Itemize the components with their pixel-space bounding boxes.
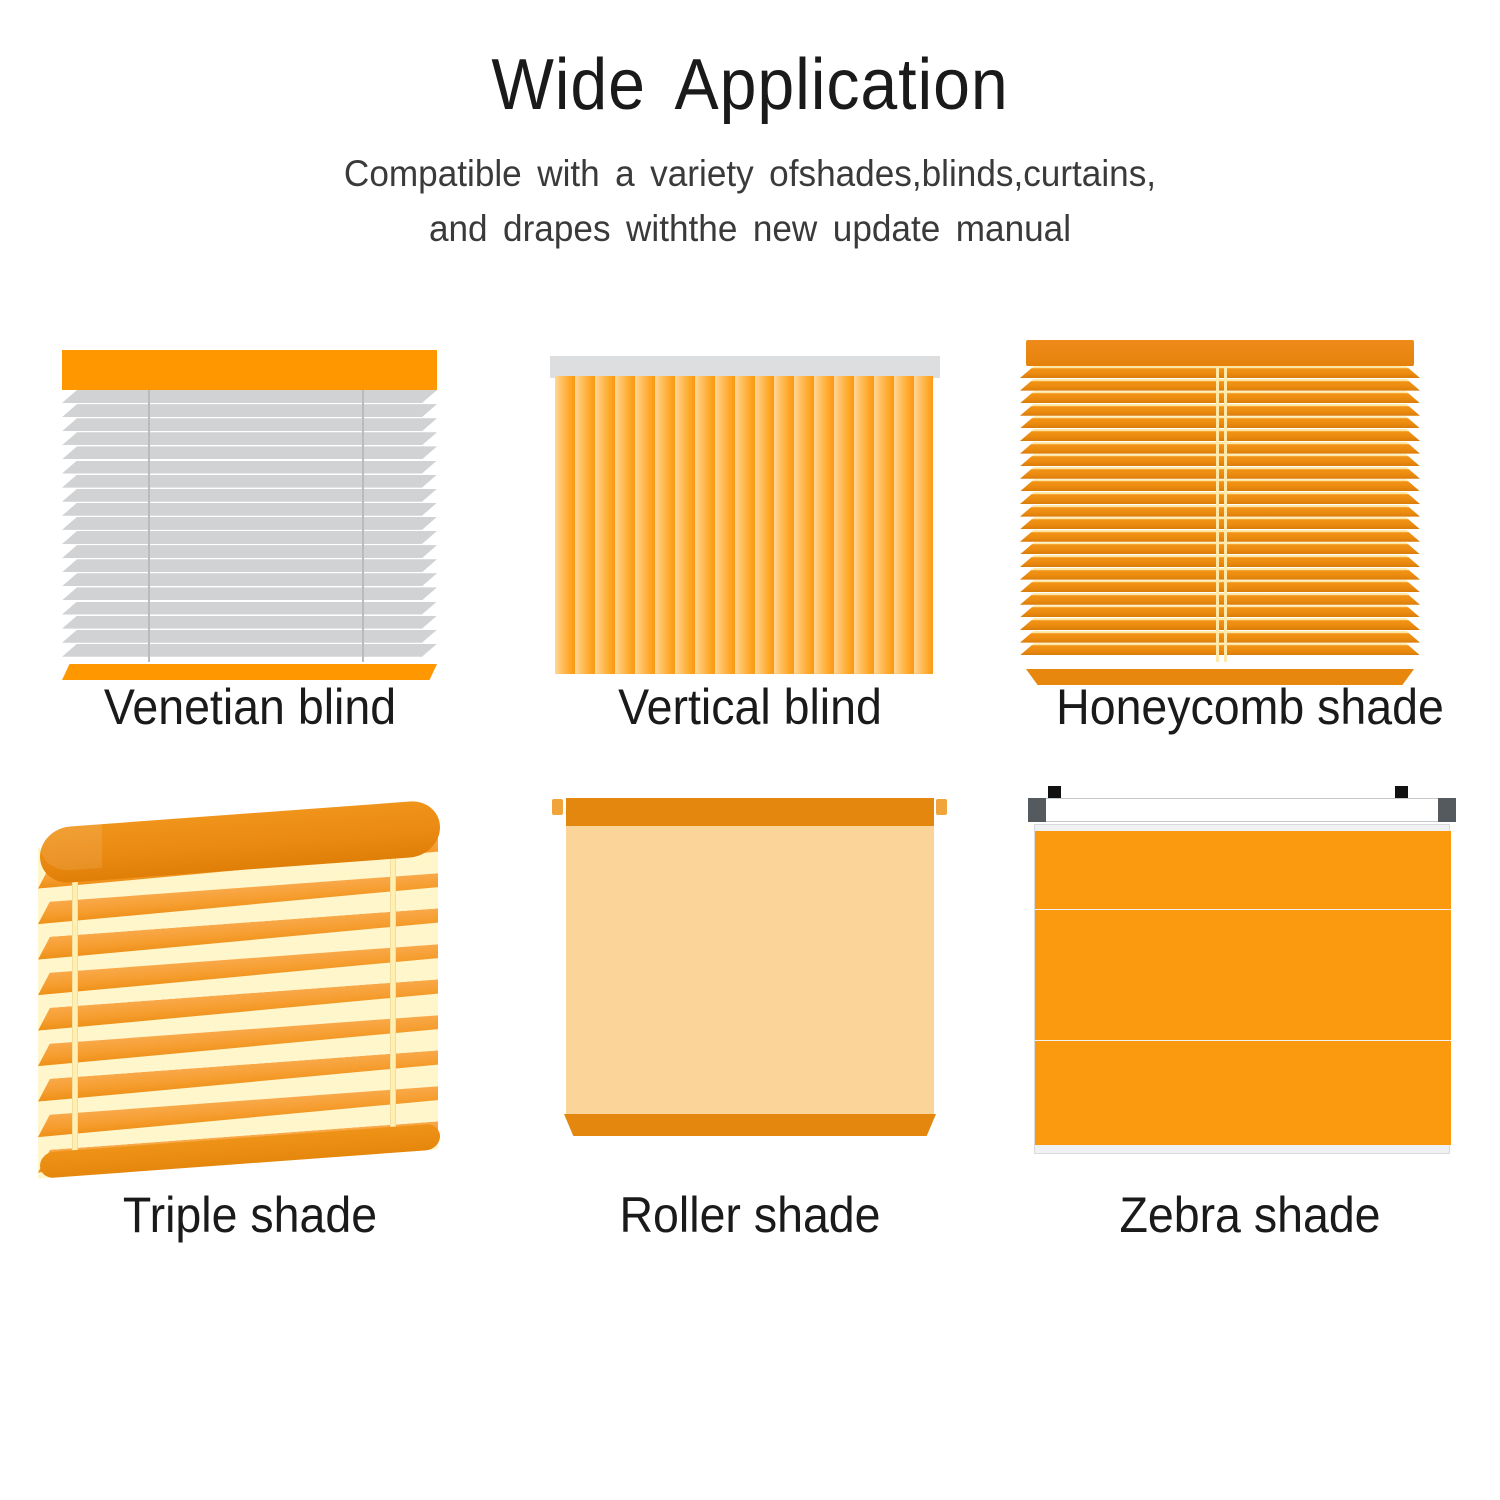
honeycomb-pleat xyxy=(1020,442,1420,454)
zebra-bracket-left xyxy=(1028,798,1046,822)
triple-headrail-endcap xyxy=(40,812,102,873)
honeycomb-pleat xyxy=(1020,631,1420,643)
venetian-cord-left xyxy=(148,390,150,662)
venetian-blind-icon xyxy=(0,318,500,678)
page-title: Wide Application xyxy=(60,48,1440,124)
zebra-band xyxy=(1035,857,1451,883)
product-grid-row-1: Venetian blind Vertical blind xyxy=(0,318,1500,736)
vertical-vane xyxy=(635,376,655,674)
zebra-band xyxy=(1035,1093,1451,1119)
vertical-blind-icon xyxy=(500,318,1000,678)
honeycomb-pleat xyxy=(1020,618,1420,630)
venetian-cord-right xyxy=(362,390,364,662)
honeycomb-pleat xyxy=(1020,605,1420,617)
vertical-vane xyxy=(595,376,615,674)
honeycomb-pleat xyxy=(1020,404,1420,416)
venetian-slat xyxy=(62,559,437,572)
zebra-band xyxy=(1035,831,1451,857)
product-label-vertical-blind: Vertical blind xyxy=(518,678,983,736)
honeycomb-pleat xyxy=(1020,505,1420,517)
vertical-vane xyxy=(894,376,914,674)
venetian-headrail xyxy=(62,350,437,390)
zebra-band xyxy=(1035,1014,1451,1040)
vertical-vane xyxy=(575,376,595,674)
product-cell-triple-shade[interactable]: Triple shade xyxy=(0,776,500,1244)
honeycomb-pleat xyxy=(1020,580,1420,592)
honeycomb-pleat xyxy=(1020,379,1420,391)
zebra-band xyxy=(1035,910,1451,936)
vertical-vane xyxy=(794,376,814,674)
venetian-slat xyxy=(62,446,437,459)
venetian-slat xyxy=(62,432,437,445)
vertical-vane xyxy=(774,376,794,674)
honeycomb-pleat xyxy=(1020,429,1420,441)
product-cell-roller-shade[interactable]: Roller shade xyxy=(500,776,1000,1244)
honeycomb-pleat xyxy=(1020,454,1420,466)
venetian-slat xyxy=(62,545,437,558)
product-cell-vertical-blind[interactable]: Vertical blind xyxy=(500,318,1000,736)
venetian-slat-stack xyxy=(62,390,437,658)
honeycomb-pleat xyxy=(1020,492,1420,504)
roller-shade-icon xyxy=(500,776,1000,1186)
venetian-slat xyxy=(62,404,437,417)
vertical-vane xyxy=(735,376,755,674)
product-label-honeycomb-shade: Honeycomb shade xyxy=(1018,678,1483,736)
page-subtitle: Compatible with a variety ofshades,blind… xyxy=(38,146,1463,257)
roller-bottom-bar xyxy=(564,1114,936,1136)
venetian-slat xyxy=(62,587,437,600)
honeycomb-shade-icon xyxy=(1000,318,1500,678)
triple-cord-right xyxy=(390,822,396,1152)
venetian-slat xyxy=(62,418,437,431)
zebra-band xyxy=(1035,1041,1451,1067)
honeycomb-pleat xyxy=(1020,555,1420,567)
venetian-slat xyxy=(62,489,437,502)
product-label-zebra-shade: Zebra shade xyxy=(1018,1186,1483,1244)
venetian-slat xyxy=(62,390,437,403)
honeycomb-pleat xyxy=(1020,593,1420,605)
vertical-vane xyxy=(655,376,675,674)
vertical-vane xyxy=(555,376,575,674)
zebra-shade-icon xyxy=(1000,776,1500,1186)
zebra-band xyxy=(1035,988,1451,1014)
honeycomb-pleat xyxy=(1020,479,1420,491)
vertical-vane-stack xyxy=(555,376,933,674)
venetian-slat xyxy=(62,644,437,657)
product-grid: Venetian blind Vertical blind xyxy=(0,318,1500,1244)
triple-cord-left xyxy=(72,846,78,1176)
roller-endcap-left xyxy=(552,799,563,815)
vertical-headrail xyxy=(550,356,940,378)
honeycomb-cord-right xyxy=(1224,366,1227,662)
honeycomb-pleat-stack xyxy=(1020,366,1420,658)
venetian-slat xyxy=(62,602,437,615)
honeycomb-pleat xyxy=(1020,391,1420,403)
page-subtitle-line-1: Compatible with a variety ofshades,blind… xyxy=(38,146,1463,202)
zebra-band xyxy=(1035,1067,1451,1093)
zebra-band xyxy=(1035,1119,1451,1145)
honeycomb-pleat xyxy=(1020,568,1420,580)
venetian-slat xyxy=(62,630,437,643)
honeycomb-pleat xyxy=(1020,530,1420,542)
zebra-band-stack xyxy=(1034,824,1450,1154)
grid-row-spacer xyxy=(0,736,1500,776)
product-cell-zebra-shade[interactable]: Zebra shade xyxy=(1000,776,1500,1244)
honeycomb-pleat xyxy=(1020,467,1420,479)
zebra-bracket-right xyxy=(1438,798,1456,822)
roller-fabric-panel xyxy=(566,826,934,1116)
vertical-vane xyxy=(874,376,894,674)
roller-tube xyxy=(566,798,934,826)
venetian-slat xyxy=(62,531,437,544)
product-label-triple-shade: Triple shade xyxy=(18,1186,483,1244)
zebra-headrail xyxy=(1028,798,1456,822)
honeycomb-pleat xyxy=(1020,542,1420,554)
venetian-slat xyxy=(62,517,437,530)
honeycomb-pleat xyxy=(1020,643,1420,655)
honeycomb-headrail xyxy=(1026,340,1414,366)
roller-endcap-right xyxy=(936,799,947,815)
honeycomb-cord-left xyxy=(1216,366,1219,662)
product-grid-row-2: Triple shade Roller shade xyxy=(0,776,1500,1244)
zebra-band xyxy=(1035,936,1451,962)
vertical-vane xyxy=(914,376,933,674)
vertical-vane xyxy=(834,376,854,674)
venetian-slat xyxy=(62,475,437,488)
product-label-roller-shade: Roller shade xyxy=(518,1186,983,1244)
zebra-band xyxy=(1035,962,1451,988)
vertical-vane xyxy=(675,376,695,674)
vertical-vane xyxy=(615,376,635,674)
page-header: Wide Application Compatible with a varie… xyxy=(0,0,1500,257)
triple-shade-icon xyxy=(0,776,500,1186)
venetian-slat xyxy=(62,573,437,586)
honeycomb-pleat xyxy=(1020,517,1420,529)
vertical-vane xyxy=(755,376,775,674)
vertical-vane xyxy=(715,376,735,674)
venetian-slat xyxy=(62,461,437,474)
venetian-slat xyxy=(62,503,437,516)
vertical-vane xyxy=(854,376,874,674)
honeycomb-pleat xyxy=(1020,366,1420,378)
vertical-vane xyxy=(695,376,715,674)
product-cell-honeycomb-shade[interactable]: Honeycomb shade xyxy=(1000,318,1500,736)
zebra-band xyxy=(1035,883,1451,909)
vertical-vane xyxy=(814,376,834,674)
page-subtitle-line-2: and drapes withthe new update manual xyxy=(38,201,1463,257)
venetian-slat xyxy=(62,616,437,629)
product-cell-venetian-blind[interactable]: Venetian blind xyxy=(0,318,500,736)
honeycomb-pleat xyxy=(1020,416,1420,428)
product-label-venetian-blind: Venetian blind xyxy=(18,678,483,736)
